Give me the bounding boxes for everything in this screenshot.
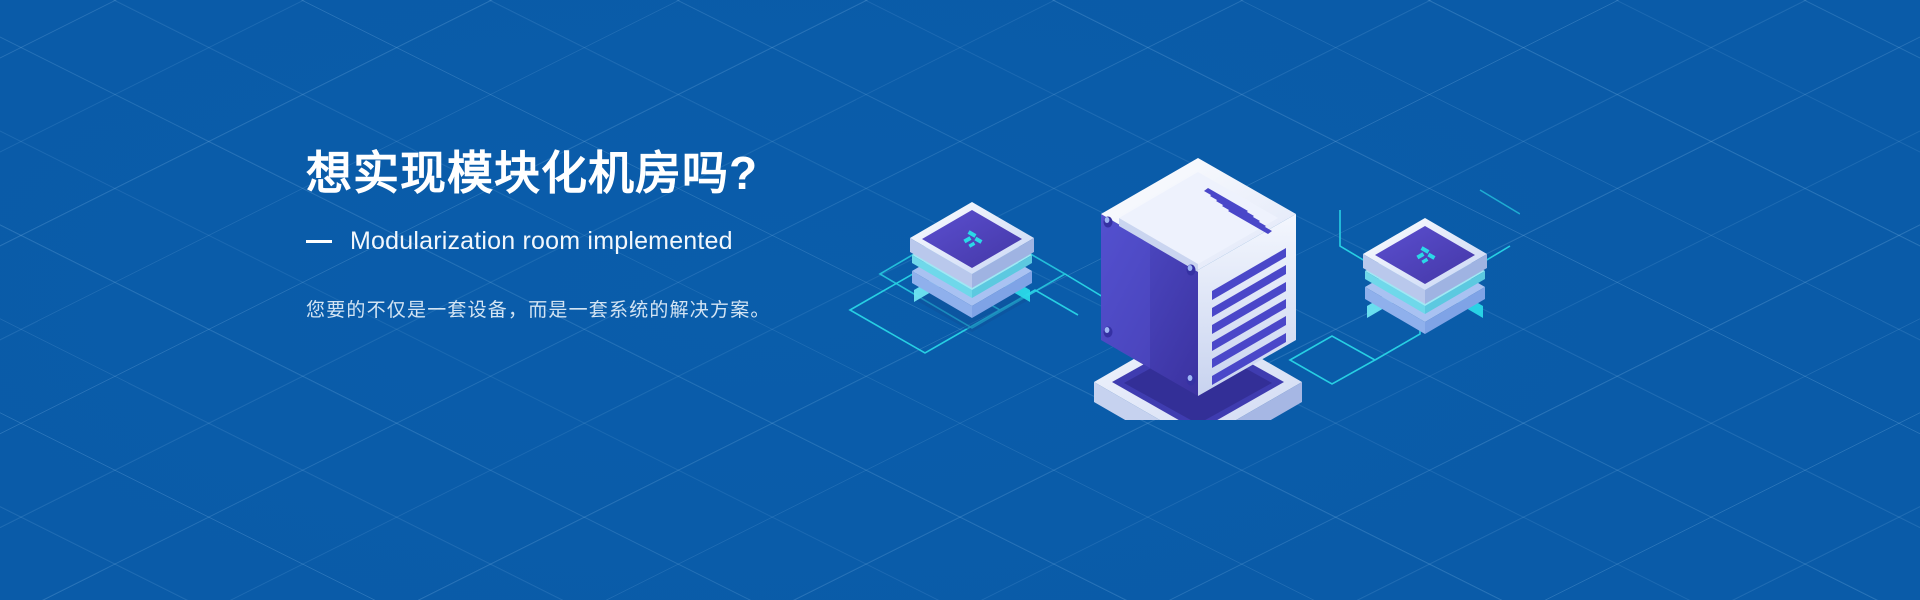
banner-subtitle: Modularization room implemented [350,227,733,256]
dash-accent-icon [306,240,332,243]
hero-banner: 想实现模块化机房吗? Modularization room implement… [0,0,1920,600]
chip-module-right [1363,218,1487,334]
server-rack-tower [1094,158,1302,420]
isometric-datacenter-illustration [820,60,1520,420]
